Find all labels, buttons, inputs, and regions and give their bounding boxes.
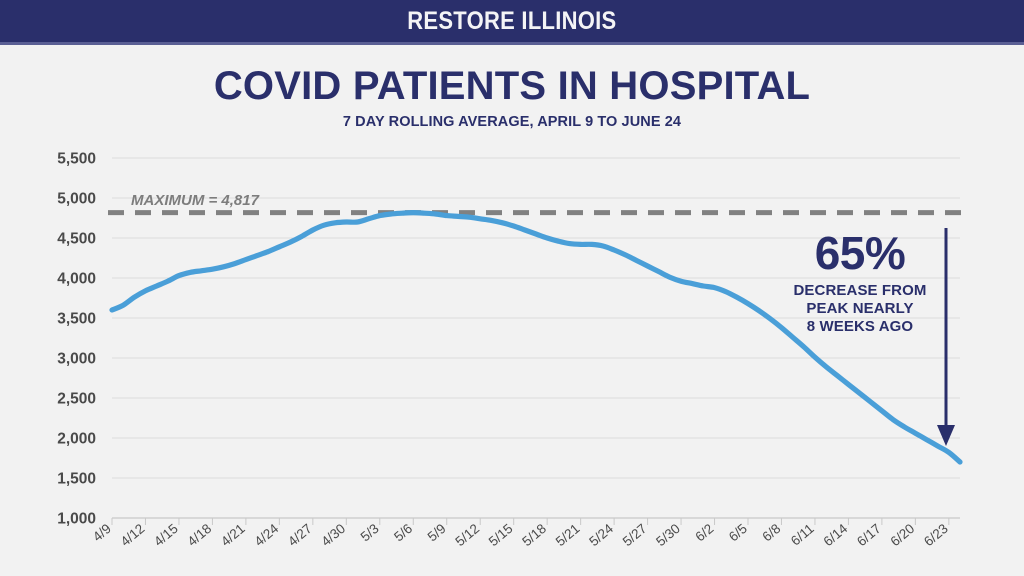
y-axis-tick-label: 1,000 (57, 511, 96, 528)
x-axis-tick-label: 5/3 (358, 521, 382, 545)
x-axis-tick-label: 6/14 (821, 520, 851, 549)
x-axis-tick-label: 6/11 (788, 521, 817, 549)
y-axis-tick-label: 3,500 (57, 311, 96, 328)
y-axis-tick-label: 5,500 (57, 151, 96, 168)
x-axis-tick-label: 6/5 (726, 521, 750, 545)
y-axis-tick-label: 4,500 (57, 231, 96, 248)
x-axis-tick-label: 5/12 (452, 521, 482, 549)
maximum-reference-label: MAXIMUM = 4,817 (131, 192, 260, 209)
x-axis-tick-label: 6/23 (921, 521, 951, 549)
callout-description: DECREASE FROM PEAK NEARLY 8 WEEKS AGO (780, 282, 940, 337)
callout-line-1: DECREASE FROM (780, 282, 940, 300)
y-axis-labels: 5,5005,0004,5004,0003,5003,0002,5002,000… (57, 151, 96, 528)
x-axis-tick-label: 5/18 (519, 521, 549, 549)
x-axis-tick-label: 6/17 (854, 521, 884, 549)
x-axis-tick-label: 5/30 (653, 521, 683, 549)
x-axis-tick-label: 4/12 (118, 521, 148, 549)
x-axis-tick-label: 5/24 (586, 520, 616, 549)
y-axis-tick-label: 5,000 (57, 191, 96, 208)
x-axis-tick-label: 4/21 (218, 521, 248, 549)
x-axis-tick-label: 4/30 (318, 521, 348, 549)
x-axis-tick-label: 5/15 (486, 521, 516, 549)
y-axis-tick-label: 2,500 (57, 391, 96, 408)
x-axis-tick-label: 6/20 (888, 521, 918, 549)
x-axis-tick-label: 5/9 (425, 521, 449, 545)
x-axis-tick-label: 4/15 (151, 521, 181, 549)
x-axis-tick-label: 4/27 (285, 521, 315, 549)
x-axis-tick-label: 6/2 (692, 521, 716, 545)
decrease-callout: 65% DECREASE FROM PEAK NEARLY 8 WEEKS AG… (780, 232, 940, 337)
y-axis-tick-label: 2,000 (57, 431, 96, 448)
y-axis-tick-label: 3,000 (57, 351, 96, 368)
x-axis-tick-label: 5/21 (553, 521, 583, 549)
x-axis-tick-label: 5/27 (620, 521, 650, 549)
gridlines (112, 158, 960, 518)
callout-line-2: PEAK NEARLY (780, 300, 940, 318)
x-axis-tick-label: 5/6 (391, 521, 415, 545)
x-axis-tick-label: 4/24 (252, 520, 282, 549)
x-axis-labels: 4/94/124/154/184/214/244/274/305/35/65/9… (90, 520, 951, 549)
y-axis-tick-label: 4,000 (57, 271, 96, 288)
callout-percent: 65% (780, 232, 940, 276)
x-axis-tick-label: 6/8 (759, 521, 783, 545)
y-axis-tick-label: 1,500 (57, 471, 96, 488)
x-axis-tick-label: 4/18 (185, 521, 215, 549)
callout-line-3: 8 WEEKS AGO (780, 318, 940, 336)
